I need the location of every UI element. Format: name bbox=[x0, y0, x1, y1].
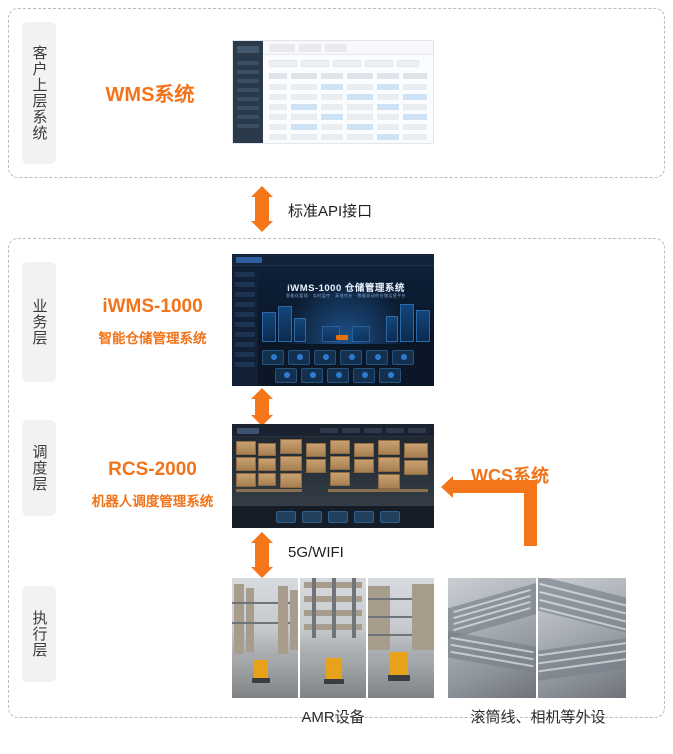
layer-label-schedule: 调度层 bbox=[22, 420, 56, 516]
wms-sidebar-item bbox=[237, 124, 259, 128]
iwms-screenshot: iWMS-1000 仓储管理系统 智能化管理 · 实时监控 · 高效作业 · 数… bbox=[232, 254, 434, 386]
wms-tab bbox=[325, 44, 347, 52]
iwms-top-bar bbox=[232, 254, 434, 266]
wms-sidebar-item bbox=[237, 79, 259, 83]
api-connector-arrow bbox=[255, 196, 269, 222]
iwms-hero-title: iWMS-1000 仓储管理系统 bbox=[258, 280, 434, 294]
wireless-connector-arrow bbox=[255, 542, 269, 568]
wms-filter-field bbox=[397, 60, 419, 67]
rcs-top-bar bbox=[232, 424, 434, 437]
amr-photo-1 bbox=[232, 578, 298, 698]
wms-table-row bbox=[269, 94, 427, 100]
wcs-arrow-vertical bbox=[524, 494, 537, 546]
amr-caption: AMR设备 bbox=[232, 706, 434, 727]
amr-photo-3 bbox=[368, 578, 434, 698]
layer-label-execute: 执行层 bbox=[22, 586, 56, 682]
wms-system-title: WMS系统 bbox=[70, 78, 230, 107]
amr-photo-2 bbox=[300, 578, 366, 698]
wms-filter-field bbox=[333, 60, 361, 67]
wms-table-row bbox=[269, 104, 427, 110]
iwms-subtitle: 智能仓储管理系统 bbox=[70, 327, 235, 347]
wms-sidebar-item bbox=[237, 61, 259, 65]
wms-sidebar-item bbox=[237, 88, 259, 92]
wms-sidebar-item bbox=[237, 106, 259, 110]
conveyor-caption: 滚筒线、相机等外设 bbox=[440, 706, 636, 727]
wms-tab bbox=[299, 44, 321, 52]
api-connector-label: 标准API接口 bbox=[288, 200, 372, 221]
wms-screenshot bbox=[232, 40, 434, 144]
wms-content-area bbox=[263, 55, 433, 143]
wireless-connector-label: 5G/WIFI bbox=[288, 544, 344, 561]
wms-tab-bar bbox=[263, 41, 433, 55]
wms-filter-field bbox=[269, 60, 297, 67]
wms-table-header-row bbox=[269, 73, 427, 79]
wms-table-row bbox=[269, 114, 427, 120]
iwms-hero-subtitle: 智能化管理 · 实时监控 · 高效作业 · 数据驱动的仓储运营平台 bbox=[258, 293, 434, 299]
rcs-title: RCS-2000 bbox=[70, 459, 235, 481]
wms-sidebar-item bbox=[237, 97, 259, 101]
wms-logo-icon bbox=[237, 46, 259, 53]
iwms-rcs-connector-arrow bbox=[255, 398, 269, 416]
agv-robot-icon bbox=[336, 335, 348, 340]
wms-table-row bbox=[269, 84, 427, 90]
wms-sidebar bbox=[233, 41, 263, 143]
rcs-action-bar bbox=[232, 506, 434, 528]
rcs-logo-icon bbox=[237, 428, 259, 434]
rcs-screenshot bbox=[232, 424, 434, 528]
wms-filter-field bbox=[301, 60, 329, 67]
wms-tab bbox=[269, 44, 295, 52]
wcs-arrow-horizontal bbox=[452, 480, 537, 493]
iwms-sidebar bbox=[232, 266, 258, 386]
layer-label-business: 业务层 bbox=[22, 262, 56, 382]
layer-label-customer: 客户上层系统 bbox=[22, 22, 56, 164]
conveyor-photo-1 bbox=[448, 578, 536, 698]
rcs-warehouse-view bbox=[232, 437, 434, 506]
iwms-module-cards bbox=[258, 344, 434, 386]
conveyor-photo-2 bbox=[538, 578, 626, 698]
wms-table-row bbox=[269, 134, 427, 140]
wms-sidebar-item bbox=[237, 115, 259, 119]
rcs-subtitle: 机器人调度管理系统 bbox=[70, 490, 235, 510]
iwms-title: iWMS-1000 bbox=[70, 296, 235, 318]
wms-table-row bbox=[269, 124, 427, 130]
iwms-hero-banner: iWMS-1000 仓储管理系统 智能化管理 · 实时监控 · 高效作业 · 数… bbox=[258, 266, 434, 344]
wms-sidebar-item bbox=[237, 70, 259, 74]
wms-filter-field bbox=[365, 60, 393, 67]
iwms-logo-icon bbox=[236, 257, 262, 263]
